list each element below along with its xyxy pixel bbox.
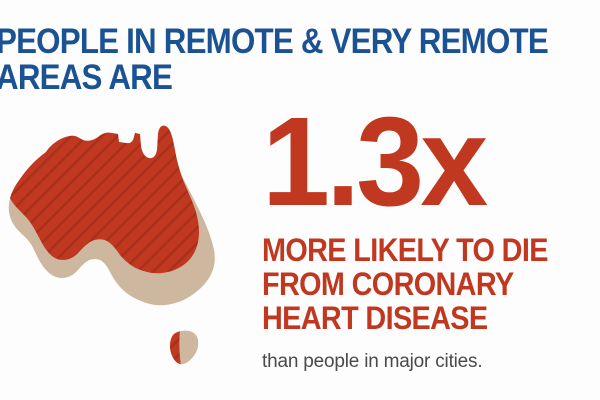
statistic-footnote: than people in major cities. (262, 351, 600, 373)
infographic-canvas: PEOPLE IN REMOTE & VERY REMOTE AREAS ARE (0, 0, 600, 400)
claim-line-1: MORE LIKELY TO DIE (262, 233, 575, 267)
claim-line-3: HEART DISEASE (262, 301, 575, 335)
statistic-value: 1.3x (262, 112, 600, 212)
map-tasmania-highlight (166, 330, 181, 366)
page-title: PEOPLE IN REMOTE & VERY REMOTE AREAS ARE (0, 24, 551, 96)
statistic-claim: MORE LIKELY TO DIE FROM CORONARY HEART D… (262, 233, 575, 335)
headline-line-1: PEOPLE IN REMOTE & VERY REMOTE (0, 24, 551, 60)
australia-map-svg (0, 112, 250, 380)
australia-map (0, 112, 250, 380)
statistic-block: 1.3x MORE LIKELY TO DIE FROM CORONARY HE… (262, 112, 600, 373)
claim-line-2: FROM CORONARY (262, 267, 575, 301)
